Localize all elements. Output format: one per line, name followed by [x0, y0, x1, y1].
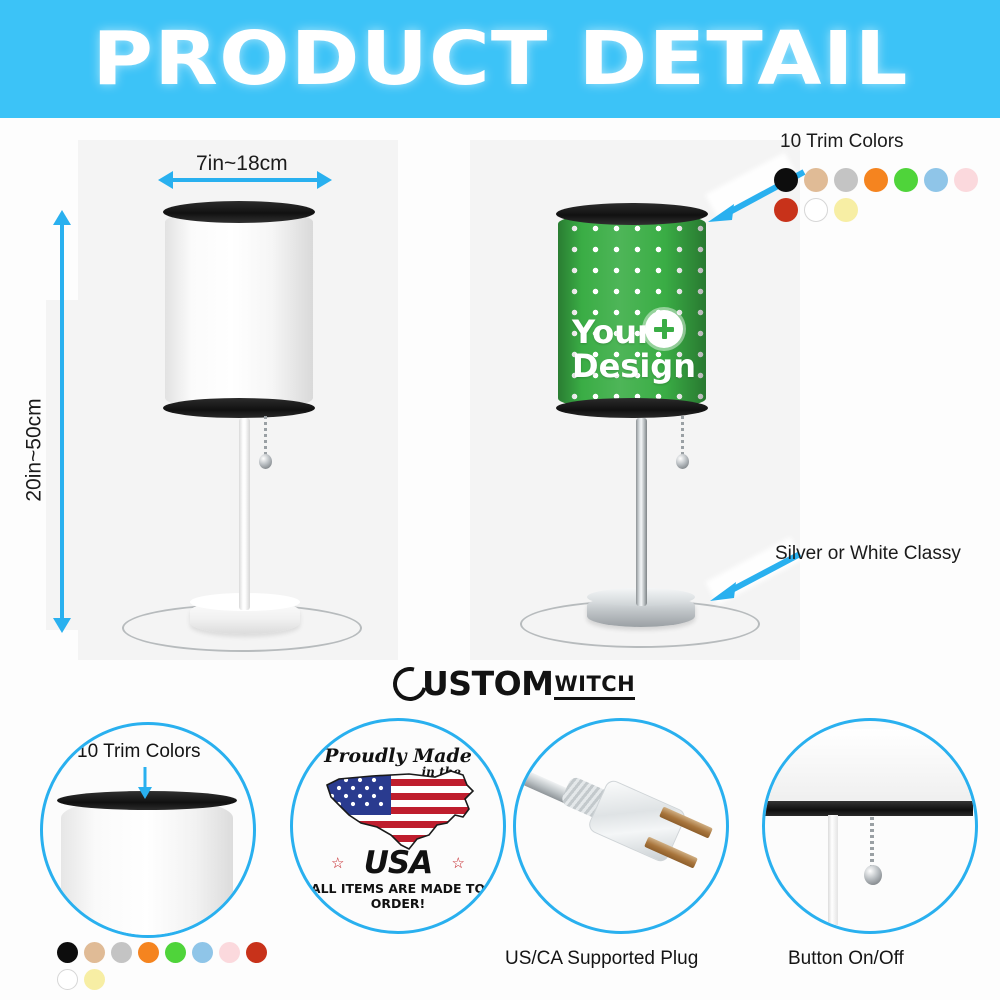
- trim-swatch-green[interactable]: [894, 168, 918, 192]
- feature-label-plug: US/CA Supported Plug: [505, 948, 698, 970]
- trim-swatch-pink[interactable]: [954, 168, 978, 192]
- feature-circle: Proudly Made in the: [290, 718, 506, 934]
- height-dimension-label: 20in~50cm: [23, 398, 47, 501]
- feature-circle: 10 Trim Colors: [40, 722, 256, 938]
- trim-swatch-yellow[interactable]: [84, 969, 105, 990]
- trim-swatch-pink[interactable]: [219, 942, 240, 963]
- trim-color-swatches-bottom: [57, 942, 287, 990]
- usa-flag-map-icon: [317, 765, 487, 857]
- shade-trim-bottom: [163, 398, 315, 418]
- shade-trim-bottom: [556, 398, 708, 418]
- pull-chain-bead-closeup[interactable]: [864, 865, 882, 885]
- logo-main-text: USTOM: [422, 664, 553, 703]
- base-finish-label: Silver or White Classy: [775, 543, 961, 565]
- trim-swatch-orange[interactable]: [138, 942, 159, 963]
- feature-label-switch: Button On/Off: [788, 948, 904, 970]
- usa-tagline: ALL ITEMS ARE MADE TO ORDER!: [293, 881, 503, 911]
- trim-swatch-white[interactable]: [804, 198, 828, 222]
- usa-script-top: Proudly Made: [293, 745, 503, 767]
- shade-trim-top: [163, 201, 315, 223]
- brand-logo: USTOM WITCH: [393, 664, 635, 703]
- feature-made-in-usa: Proudly Made in the: [290, 718, 514, 942]
- lamp-pole-closeup: [828, 815, 838, 925]
- trim-pointer-arrow: [134, 767, 156, 801]
- design-line-1: Your: [572, 313, 653, 351]
- trim-swatch-tan[interactable]: [84, 942, 105, 963]
- feature-plug: US/CA Supported Plug: [513, 718, 737, 942]
- pull-chain[interactable]: [681, 416, 684, 458]
- lamp-shade-white: [165, 210, 313, 410]
- trim-swatch-white[interactable]: [57, 969, 78, 990]
- lamp-pole-silver: [636, 418, 647, 606]
- width-dimension-label: 7in~18cm: [196, 152, 288, 176]
- feature-trim-colors: 10 Trim Colors: [40, 722, 264, 946]
- trim-swatch-gray[interactable]: [834, 168, 858, 192]
- pull-chain-closeup[interactable]: [870, 817, 874, 869]
- product-detail-infographic: PRODUCT DETAIL 7in~18cm 20in~50cm: [0, 0, 1000, 1000]
- shade-surface: [165, 210, 313, 410]
- feature-label-trim-colors: 10 Trim Colors: [77, 741, 201, 763]
- trim-swatch-red[interactable]: [774, 198, 798, 222]
- trim-swatch-black[interactable]: [774, 168, 798, 192]
- trim-swatch-yellow[interactable]: [834, 198, 858, 222]
- trim-swatch-gray[interactable]: [111, 942, 132, 963]
- trim-swatch-black[interactable]: [57, 942, 78, 963]
- trim-swatch-red[interactable]: [246, 942, 267, 963]
- header-banner: PRODUCT DETAIL: [0, 0, 1000, 118]
- shade-closeup: [61, 797, 233, 938]
- feature-switch: Button On/Off: [762, 718, 986, 942]
- shade-closeup: [767, 729, 971, 803]
- design-line-2: Design: [572, 347, 696, 385]
- lamp-shade-green: Your Design: [558, 212, 706, 410]
- logo-sub-text: WITCH: [554, 672, 635, 700]
- plus-icon: [645, 310, 683, 348]
- page-title: PRODUCT DETAIL: [92, 16, 908, 102]
- trim-swatch-light-blue[interactable]: [192, 942, 213, 963]
- trim-swatch-orange[interactable]: [864, 168, 888, 192]
- trim-swatch-light-blue[interactable]: [924, 168, 948, 192]
- trim-colors-label-top: 10 Trim Colors: [780, 131, 904, 153]
- pull-chain-bead[interactable]: [676, 454, 689, 469]
- pull-chain[interactable]: [264, 416, 267, 458]
- shade-trim-top: [556, 203, 708, 225]
- lamp-pole-white: [239, 418, 250, 610]
- usa-big-text: USA: [293, 845, 503, 881]
- backdrop-blotch: [46, 300, 86, 630]
- trim-color-swatches-top: [774, 168, 1000, 222]
- star-icon-right: ☆: [452, 854, 465, 872]
- shade-trim-closeup: [765, 801, 973, 816]
- trim-swatch-green[interactable]: [165, 942, 186, 963]
- shade-surface: Your Design: [558, 212, 706, 410]
- feature-circle: [762, 718, 978, 934]
- trim-swatch-tan[interactable]: [804, 168, 828, 192]
- pull-chain-bead[interactable]: [259, 454, 272, 469]
- feature-circle: [513, 718, 729, 934]
